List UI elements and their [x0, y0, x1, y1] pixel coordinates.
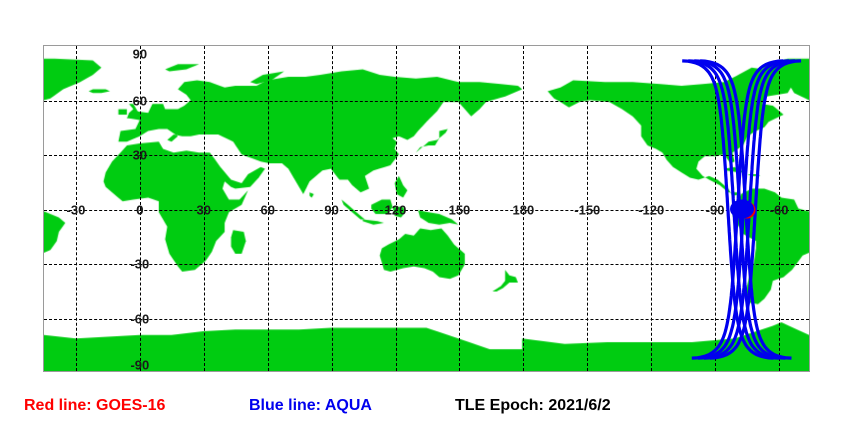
satellite-ground-track-map: 9060300-30-60-90-300306090120150180-150-… — [0, 0, 850, 425]
aqua-position-marker — [730, 199, 754, 218]
legend-aqua-label: Blue line: AQUA — [249, 398, 372, 414]
legend-tle-epoch-label: TLE Epoch: 2021/6/2 — [455, 398, 611, 414]
legend: Red line: GOES-16 Blue line: AQUA TLE Ep… — [0, 392, 850, 425]
world-map-landmass-canvas — [44, 46, 809, 371]
legend-goes16-label: Red line: GOES-16 — [24, 398, 165, 414]
map-plot-area[interactable]: 9060300-30-60-90-300306090120150180-150-… — [43, 45, 810, 372]
